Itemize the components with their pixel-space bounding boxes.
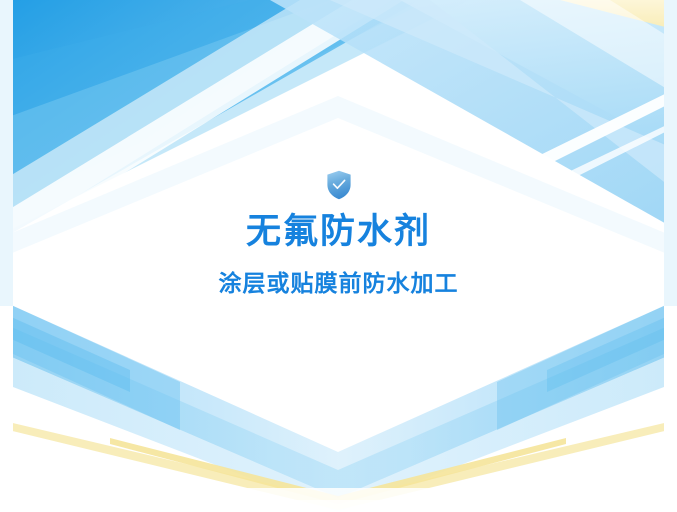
promo-banner: 无氟防水剂 涂层或贴膜前防水加工 (0, 0, 677, 512)
page-subtitle: 涂层或贴膜前防水加工 (219, 270, 459, 296)
shield-check-icon (326, 170, 352, 200)
page-title: 无氟防水剂 (246, 212, 431, 252)
banner-content: 无氟防水剂 涂层或贴膜前防水加工 (0, 0, 677, 512)
